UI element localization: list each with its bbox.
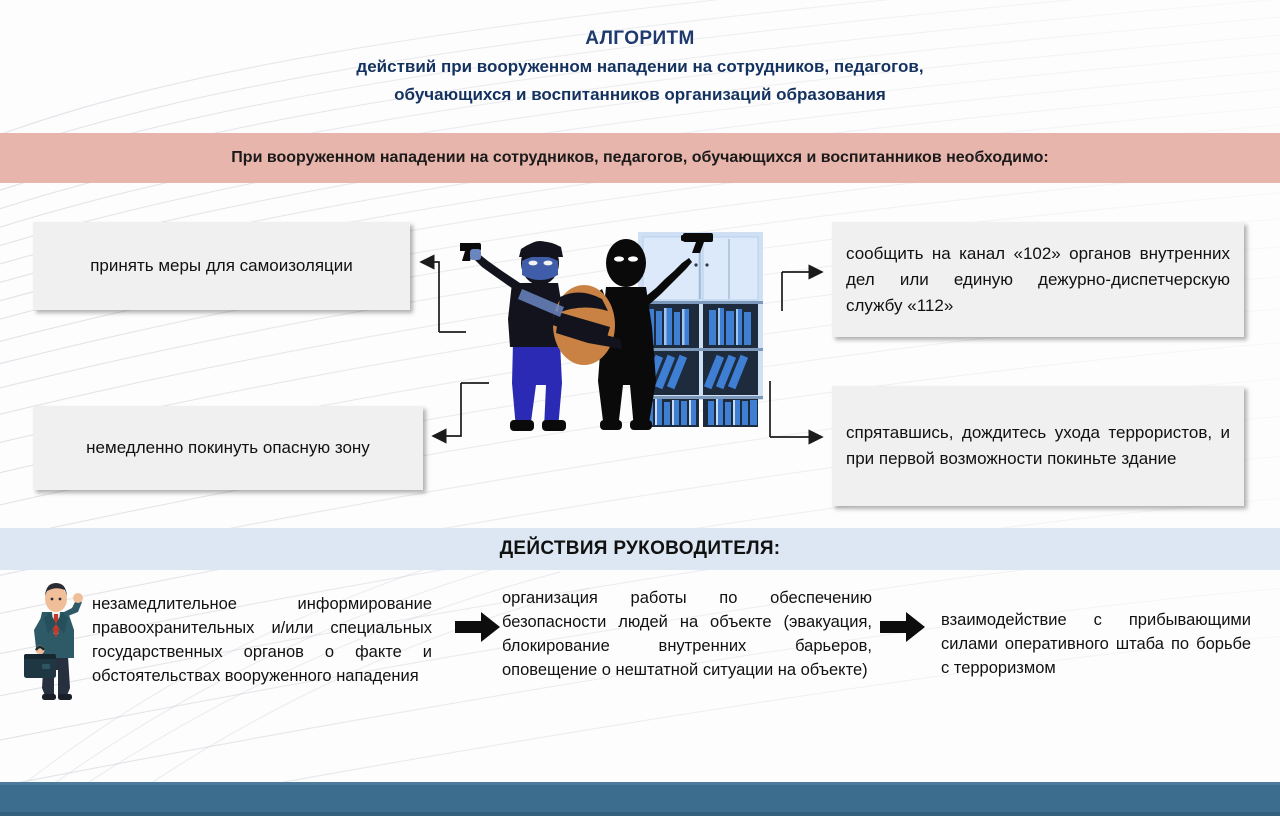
requirements-banner-text: При вооруженном нападении на сотрудников… — [231, 149, 1048, 167]
action-box-isolate: принять меры для самоизоляции — [33, 222, 410, 310]
action-box-leave-danger-zone-text: немедленно покинуть опасную зону — [33, 435, 423, 461]
page-subtitle-line-1: действий при вооруженном нападении на со… — [0, 53, 1280, 80]
page-title: АЛГОРИТМ — [0, 26, 1280, 52]
infographic-poster: АЛГОРИТМ действий при вооруженном нападе… — [0, 0, 1280, 816]
action-box-hide-and-wait: спрятавшись, дождитесь ухода террористов… — [832, 386, 1244, 506]
requirements-banner: При вооруженном нападении на сотрудников… — [0, 133, 1280, 183]
manager-step-2: организация работы по обеспечению безопа… — [502, 586, 872, 682]
block-arrow-2-icon — [880, 610, 926, 644]
action-box-call-emergency-text: сообщить на канал «102» органов внутренн… — [832, 241, 1244, 319]
manager-step-1: незамедлительное информирование правоохр… — [92, 592, 432, 688]
manager-actions-banner: ДЕЙСТВИЯ РУКОВОДИТЕЛЯ: — [0, 528, 1280, 570]
businessman-icon — [16, 572, 94, 704]
manager-actions-heading: ДЕЙСТВИЯ РУКОВОДИТЕЛЯ: — [500, 538, 781, 560]
action-box-leave-danger-zone: немедленно покинуть опасную зону — [33, 406, 423, 490]
block-arrow-1-icon — [455, 610, 501, 644]
action-box-hide-and-wait-text: спрятавшись, дождитесь ухода террористов… — [832, 420, 1244, 472]
poster-title-block: АЛГОРИТМ действий при вооруженном нападе… — [0, 26, 1280, 108]
attacker-left-figure — [460, 241, 622, 431]
manager-step-3: взаимодействие с прибывающими силами опе… — [941, 608, 1251, 680]
armed-attack-illustration — [460, 215, 800, 450]
page-subtitle-line-2: обучающихся и воспитанников организаций … — [0, 81, 1280, 108]
action-box-call-emergency: сообщить на канал «102» органов внутренн… — [832, 222, 1244, 337]
footer-bar — [0, 782, 1280, 816]
action-box-isolate-text: принять меры для самоизоляции — [33, 253, 410, 279]
bookcase-icon — [638, 232, 763, 427]
